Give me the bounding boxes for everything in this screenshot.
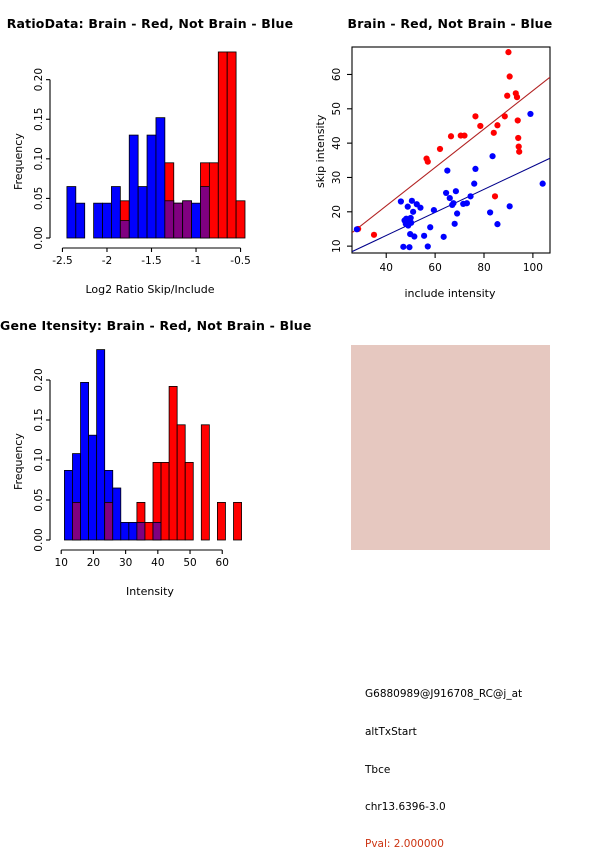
hist-bar-overlap	[105, 502, 113, 540]
scatter-point	[427, 224, 433, 230]
y-tick-label: 50	[331, 102, 343, 115]
hist-bar	[121, 522, 129, 540]
hist-bar-overlap	[137, 522, 145, 540]
x-tick-label: -2	[102, 255, 112, 267]
hist-bar	[81, 382, 89, 540]
hist-bar	[94, 203, 103, 238]
gene-hist-title: Gene Itensity: Brain - Red, Not Brain - …	[0, 318, 300, 333]
y-tick-label: 0.10	[33, 448, 45, 471]
scatter-point	[502, 113, 508, 119]
hist-bar	[67, 187, 76, 238]
gene-hist-canvas: 0.000.050.100.150.20102030405060	[0, 300, 300, 600]
hist-bar	[177, 425, 185, 540]
info-event-type: altTxStart	[365, 726, 417, 738]
x-tick-label: 60	[428, 262, 441, 274]
scatter-point	[405, 204, 411, 210]
scatter-point	[472, 166, 478, 172]
info-gene-symbol: Tbce	[365, 764, 390, 776]
y-tick-label: 0.00	[33, 528, 45, 551]
scatter-point	[371, 232, 377, 238]
hist-bar	[217, 502, 225, 540]
scatter-canvas: 102030405060406080100	[300, 0, 600, 300]
scatter-point	[491, 130, 497, 136]
x-tick-label: 50	[183, 557, 196, 569]
panel-ratio-histogram: RatioData: Brain - Red, Not Brain - Blue…	[0, 0, 300, 300]
scatter-point	[398, 198, 404, 204]
hist-bar	[227, 52, 236, 238]
y-tick-label: 30	[331, 171, 343, 184]
y-tick-label: 40	[331, 136, 343, 149]
hist-bar-overlap	[72, 502, 80, 540]
hist-bar	[89, 435, 97, 540]
scatter-point	[505, 49, 511, 55]
scatter-point	[400, 244, 406, 250]
y-tick-label: 0.05	[33, 488, 45, 511]
scatter-point	[515, 135, 521, 141]
hist-bar	[64, 470, 72, 540]
fit-line	[352, 77, 550, 233]
scatter-point	[452, 221, 458, 227]
scatter-point	[515, 117, 521, 123]
scatter-point	[467, 193, 473, 199]
scatter-point	[417, 205, 423, 211]
scatter-point	[464, 200, 470, 206]
scatter-ylabel: skip intensity	[314, 115, 327, 188]
y-tick-label: 0.10	[33, 147, 45, 170]
scatter-point	[489, 153, 495, 159]
x-tick-label: 60	[216, 557, 229, 569]
scatter-point	[527, 111, 533, 117]
y-tick-label: 20	[331, 205, 343, 218]
hist-bar	[97, 350, 105, 540]
scatter-point	[441, 234, 447, 240]
x-tick-label: 30	[119, 557, 132, 569]
scatter-point	[447, 195, 453, 201]
scatter-point	[516, 149, 522, 155]
hist-bar-overlap	[165, 201, 174, 238]
panel-scatter: Brain - Red, Not Brain - Blue skip inten…	[300, 0, 600, 300]
ratio-hist-title: RatioData: Brain - Red, Not Brain - Blue	[0, 16, 300, 31]
hist-bar	[169, 386, 177, 540]
info-box	[351, 345, 550, 550]
hist-bar	[111, 187, 120, 238]
svg-ratio-bars	[67, 52, 245, 238]
gene-hist-ylabel: Frequency	[12, 433, 25, 490]
y-tick-label: 0.20	[33, 368, 45, 391]
plot-page: RatioData: Brain - Red, Not Brain - Blue…	[0, 0, 600, 600]
scatter-point	[425, 159, 431, 165]
hist-bar	[156, 118, 165, 238]
hist-bar-overlap	[153, 522, 161, 540]
x-tick-label: 10	[55, 557, 68, 569]
y-tick-label: 0.00	[33, 226, 45, 249]
hist-bar	[129, 135, 138, 238]
scatter-point	[437, 146, 443, 152]
hist-bar	[76, 203, 85, 238]
y-tick-label: 0.20	[33, 68, 45, 91]
scatter-point	[492, 193, 498, 199]
x-tick-label: -0.5	[230, 255, 251, 267]
info-locus: chr13.6396-3.0	[365, 801, 446, 813]
scatter-point	[450, 200, 456, 206]
hist-bar	[161, 462, 169, 540]
scatter-point	[443, 190, 449, 196]
scatter-xlabel: include intensity	[300, 287, 600, 300]
scatter-point	[431, 207, 437, 213]
scatter-point	[453, 188, 459, 194]
scatter-point	[514, 94, 520, 100]
scatter-point	[477, 123, 483, 129]
scatter-point	[411, 233, 417, 239]
panel-info: G6880989@J916708_RC@j_at altTxStart Tbce…	[300, 300, 600, 600]
info-pval: Pval: 2.000000	[365, 838, 444, 850]
scatter-point	[472, 113, 478, 119]
x-tick-label: 80	[477, 262, 490, 274]
hist-bar-overlap	[183, 201, 192, 238]
info-probe-id: G6880989@J916708_RC@j_at	[365, 688, 522, 700]
scatter-point	[494, 122, 500, 128]
x-tick-label: -1	[191, 255, 201, 267]
hist-bar	[201, 425, 209, 540]
y-tick-label: 0.05	[33, 187, 45, 210]
hist-bar-overlap	[200, 187, 209, 238]
scatter-point	[448, 133, 454, 139]
hist-bar	[138, 187, 147, 238]
hist-bar	[236, 201, 245, 238]
hist-bar	[234, 502, 242, 540]
scatter-title: Brain - Red, Not Brain - Blue	[300, 16, 600, 31]
hist-bar-overlap	[174, 203, 183, 238]
hist-bar	[192, 203, 201, 238]
scatter-layer	[352, 49, 550, 252]
hist-bar-overlap	[120, 221, 129, 238]
scatter-point	[444, 168, 450, 174]
ratio-hist-xlabel: Log2 Ratio Skip/Include	[0, 283, 300, 296]
scatter-point	[487, 209, 493, 215]
hist-bar	[209, 163, 218, 238]
x-tick-label: 100	[523, 262, 543, 274]
x-tick-label: 20	[87, 557, 100, 569]
y-tick-label: 60	[331, 68, 343, 81]
scatter-point	[354, 226, 360, 232]
ratio-hist-ylabel: Frequency	[12, 133, 25, 190]
scatter-point	[507, 73, 513, 79]
scatter-point	[461, 132, 467, 138]
scatter-point	[507, 203, 513, 209]
hist-bar	[113, 488, 121, 540]
hist-bar	[103, 203, 112, 238]
scatter-point	[425, 243, 431, 249]
y-tick-label: 0.15	[33, 408, 45, 431]
scatter-point	[540, 181, 546, 187]
x-tick-label: -1.5	[141, 255, 162, 267]
x-tick-label: -2.5	[52, 255, 73, 267]
x-tick-label: 40	[380, 262, 393, 274]
scatter-point	[410, 209, 416, 215]
scatter-point	[454, 210, 460, 216]
scatter-point	[504, 93, 510, 99]
gene-hist-xlabel: Intensity	[0, 585, 300, 598]
y-tick-label: 10	[331, 239, 343, 252]
scatter-point	[421, 233, 427, 239]
hist-bar	[145, 522, 153, 540]
hist-bar	[147, 135, 156, 238]
scatter-point	[494, 221, 500, 227]
hist-bar	[185, 462, 193, 540]
hist-bar	[129, 522, 137, 540]
svg-gene-bars	[64, 350, 241, 540]
ratio-hist-canvas: 0.000.050.100.150.20-2.5-2-1.5-1-0.5	[0, 0, 300, 300]
hist-bar	[218, 52, 227, 238]
scatter-point	[408, 220, 414, 226]
scatter-point	[406, 244, 412, 250]
scatter-point	[471, 181, 477, 187]
x-tick-label: 40	[151, 557, 164, 569]
y-tick-label: 0.15	[33, 108, 45, 131]
panel-gene-histogram: Gene Itensity: Brain - Red, Not Brain - …	[0, 300, 300, 600]
